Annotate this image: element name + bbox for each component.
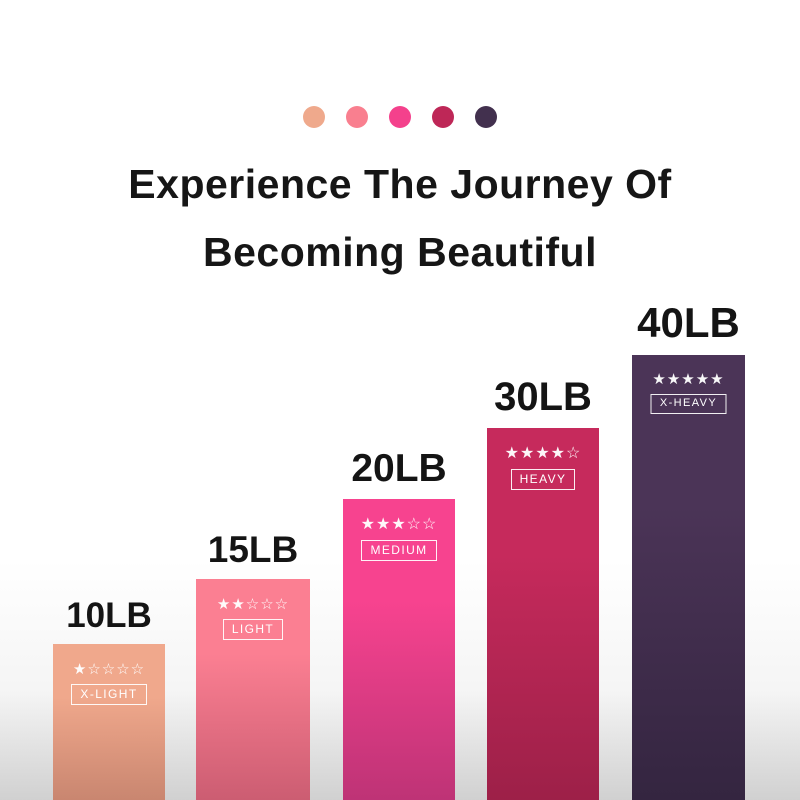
star-rating: ★★★★☆ — [487, 446, 599, 462]
level-badge: X-LIGHT — [71, 684, 146, 705]
color-swatch-row — [0, 106, 800, 128]
weight-label-30lb: 30LB — [494, 377, 592, 417]
dot-x-light — [303, 106, 325, 128]
bar-badge-group: ★★★☆☆MEDIUM — [343, 517, 455, 561]
bar-x-heavy[interactable]: ★★★★★X-HEAVY — [632, 355, 745, 800]
level-badge: HEAVY — [511, 469, 576, 490]
bar-fill — [632, 355, 745, 800]
bar-badge-group: ★★★★☆HEAVY — [487, 446, 599, 490]
star-rating: ★★☆☆☆ — [196, 597, 310, 612]
star-rating: ★★★★★ — [632, 372, 745, 387]
weight-label-40lb: 40LB — [637, 302, 740, 344]
bar-badge-group: ★★★★★X-HEAVY — [632, 372, 745, 414]
bar-heavy[interactable]: ★★★★☆HEAVY — [487, 428, 599, 800]
bar-medium[interactable]: ★★★☆☆MEDIUM — [343, 499, 455, 800]
weight-label-10lb: 10LB — [66, 598, 152, 633]
dot-light — [346, 106, 368, 128]
page-title: Experience The Journey Of Becoming Beaut… — [0, 150, 800, 286]
level-badge: X-HEAVY — [651, 394, 726, 414]
dot-heavy — [432, 106, 454, 128]
dot-x-heavy — [475, 106, 497, 128]
dot-medium — [389, 106, 411, 128]
page-title-line-2: Becoming Beautiful — [0, 218, 800, 286]
bar-badge-group: ★☆☆☆☆X-LIGHT — [53, 662, 165, 705]
bar-light[interactable]: ★★☆☆☆LIGHT — [196, 579, 310, 800]
weight-label-20lb: 20LB — [351, 449, 446, 488]
level-badge: MEDIUM — [361, 540, 436, 561]
bar-badge-group: ★★☆☆☆LIGHT — [196, 597, 310, 640]
level-badge: LIGHT — [223, 619, 283, 640]
resistance-band-infographic: Experience The Journey Of Becoming Beaut… — [0, 0, 800, 800]
weight-label-15lb: 15LB — [208, 531, 298, 568]
page-title-line-1: Experience The Journey Of — [0, 150, 800, 218]
bar-x-light[interactable]: ★☆☆☆☆X-LIGHT — [53, 644, 165, 800]
star-rating: ★★★☆☆ — [343, 517, 455, 533]
star-rating: ★☆☆☆☆ — [53, 662, 165, 677]
